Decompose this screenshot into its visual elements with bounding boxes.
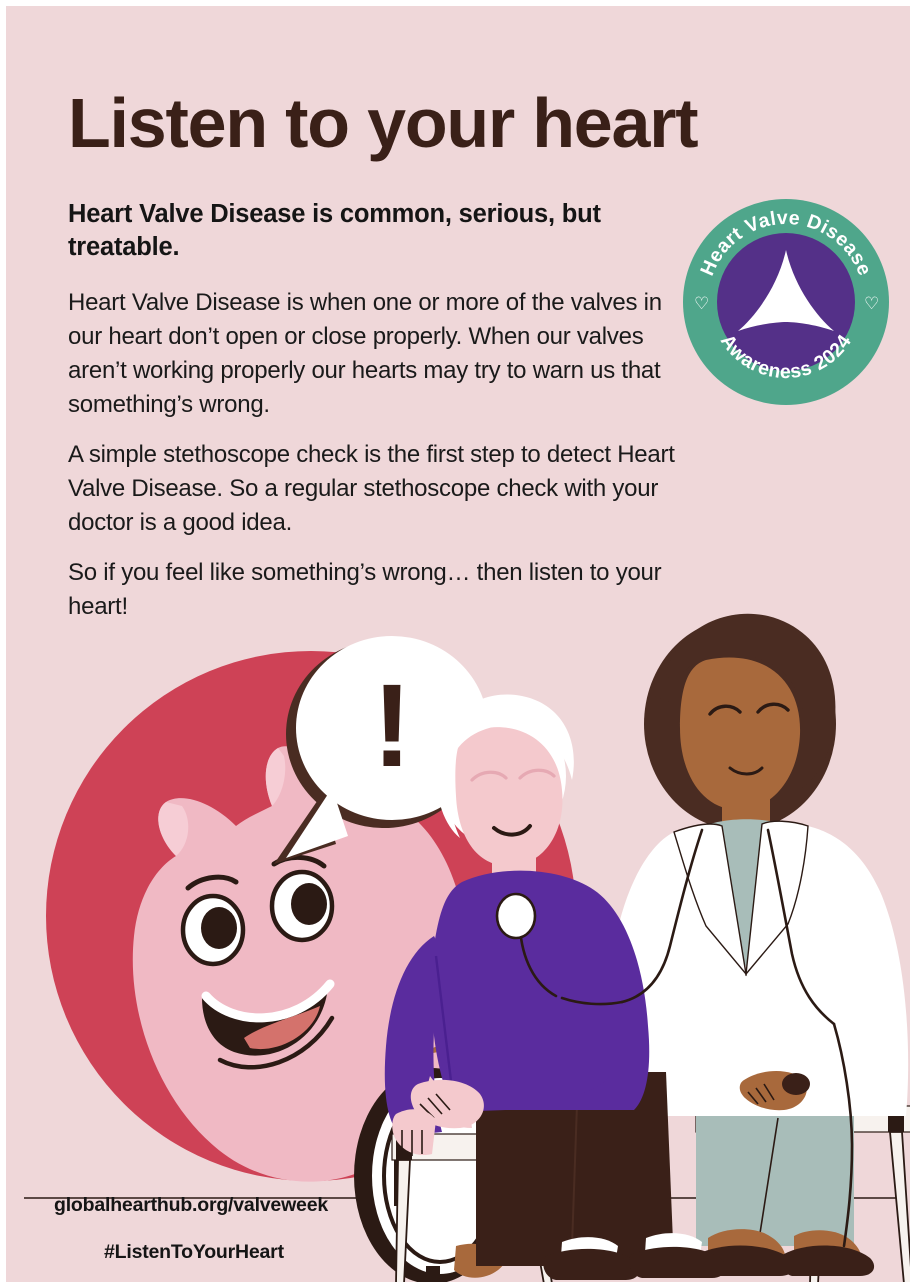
- body-paragraph-2: A simple stethoscope check is the first …: [68, 438, 686, 540]
- heart-outline-right-icon: ♡: [864, 294, 879, 313]
- doctor-face: [680, 657, 800, 810]
- awareness-badge: Heart Valve Disease Awareness 2024 ♡ ♡: [682, 198, 890, 406]
- website-url[interactable]: globalhearthub.org/valveweek: [54, 1194, 328, 1217]
- heart-outline-left-icon: ♡: [694, 294, 709, 313]
- page-title: Listen to your heart: [68, 84, 868, 162]
- campaign-hashtag: #ListenToYourHeart: [104, 1241, 284, 1264]
- chestpiece-stem: [426, 1266, 440, 1288]
- chair-doctor-leg-right: [890, 1132, 912, 1284]
- doctor-shoe-right-sole: [782, 1245, 874, 1276]
- body-paragraph-1: Heart Valve Disease is when one or more …: [68, 286, 686, 422]
- illustration-scene: !: [6, 606, 916, 1288]
- doctor-thumb: [782, 1073, 810, 1095]
- heart-pupil-left: [201, 907, 237, 949]
- subheadline: Heart Valve Disease is common, serious, …: [68, 198, 668, 264]
- stethoscope-chestpiece-icon: [497, 894, 535, 938]
- heart-pupil-right: [291, 883, 327, 925]
- exclamation-mark-label: !: [372, 660, 411, 792]
- poster-canvas: Listen to your heart Heart Valve Disease…: [0, 0, 916, 1288]
